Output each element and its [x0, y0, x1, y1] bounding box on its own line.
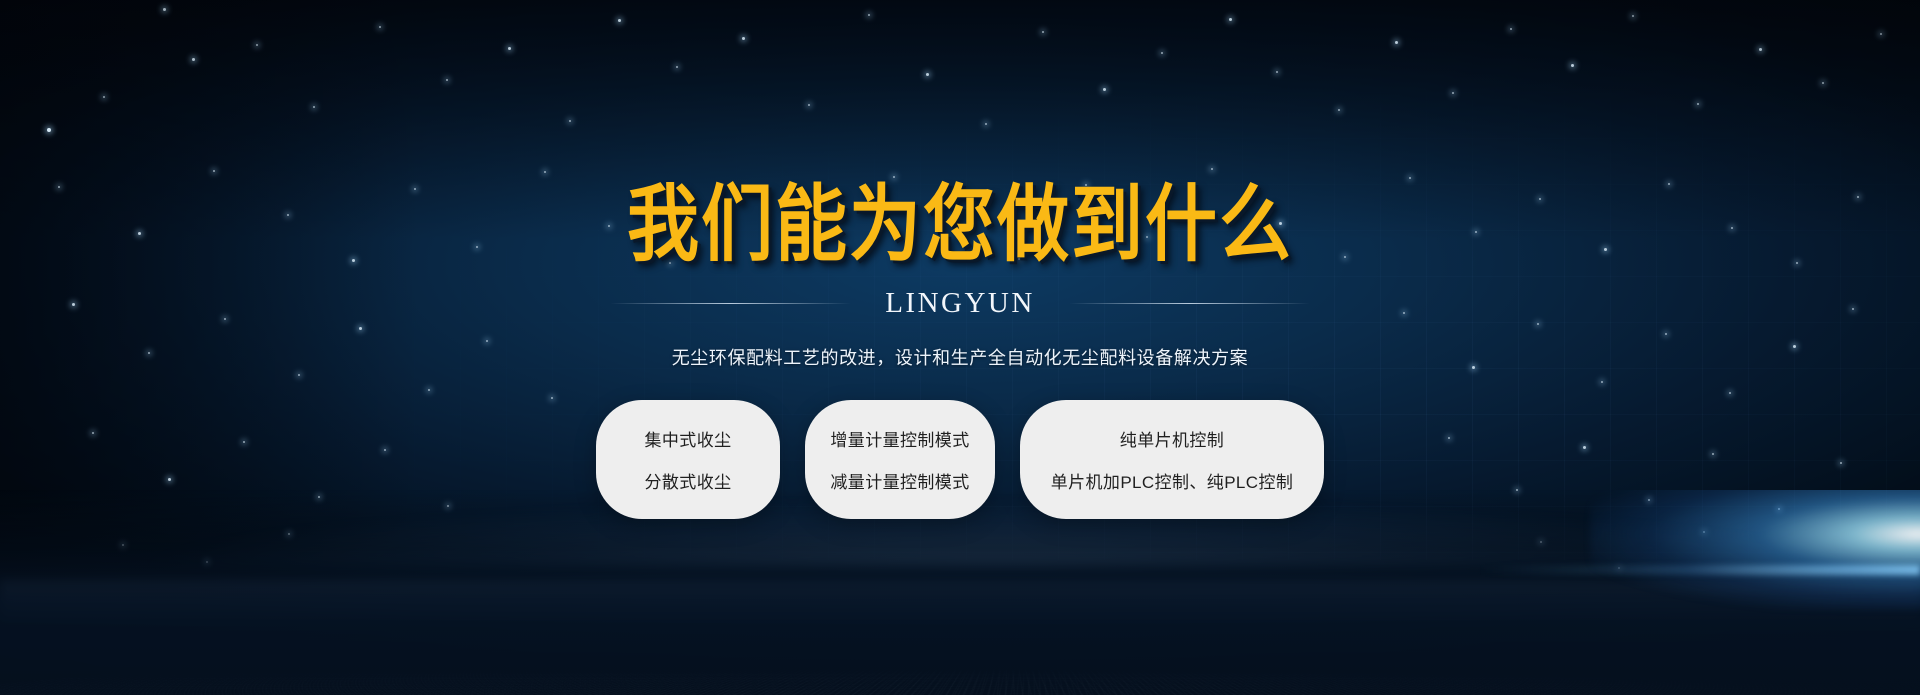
- feature-card-dust-collection[interactable]: 集中式收尘 分散式收尘: [596, 400, 780, 519]
- divider-line-left: [610, 303, 851, 304]
- feature-card-line: 单片机加PLC控制、纯PLC控制: [1051, 468, 1294, 493]
- feature-card-line: 减量计量控制模式: [830, 468, 969, 493]
- feature-card-line: 纯单片机控制: [1120, 426, 1224, 451]
- page-title: 我们能为您做到什么: [627, 182, 1293, 266]
- feature-card-group: 集中式收尘 分散式收尘 增量计量控制模式 减量计量控制模式 纯单片机控制 单片机…: [596, 400, 1324, 519]
- brand-subtitle-row: LINGYUN: [610, 287, 1310, 320]
- feature-card-line: 增量计量控制模式: [830, 426, 969, 451]
- feature-card-metering-mode[interactable]: 增量计量控制模式 减量计量控制模式: [805, 400, 995, 519]
- banner-stage: 我们能为您做到什么 LINGYUN 无尘环保配料工艺的改进，设计和生产全自动化无…: [0, 0, 1920, 695]
- feature-card-line: 分散式收尘: [645, 468, 732, 493]
- feature-card-line: 集中式收尘: [645, 426, 732, 451]
- feature-card-control-system[interactable]: 纯单片机控制 单片机加PLC控制、纯PLC控制: [1020, 400, 1324, 519]
- banner-description: 无尘环保配料工艺的改进，设计和生产全自动化无尘配料设备解决方案: [672, 344, 1249, 370]
- brand-name: LINGYUN: [885, 287, 1035, 320]
- banner-content: 我们能为您做到什么 LINGYUN 无尘环保配料工艺的改进，设计和生产全自动化无…: [0, 0, 1920, 695]
- divider-line-right: [1069, 303, 1310, 304]
